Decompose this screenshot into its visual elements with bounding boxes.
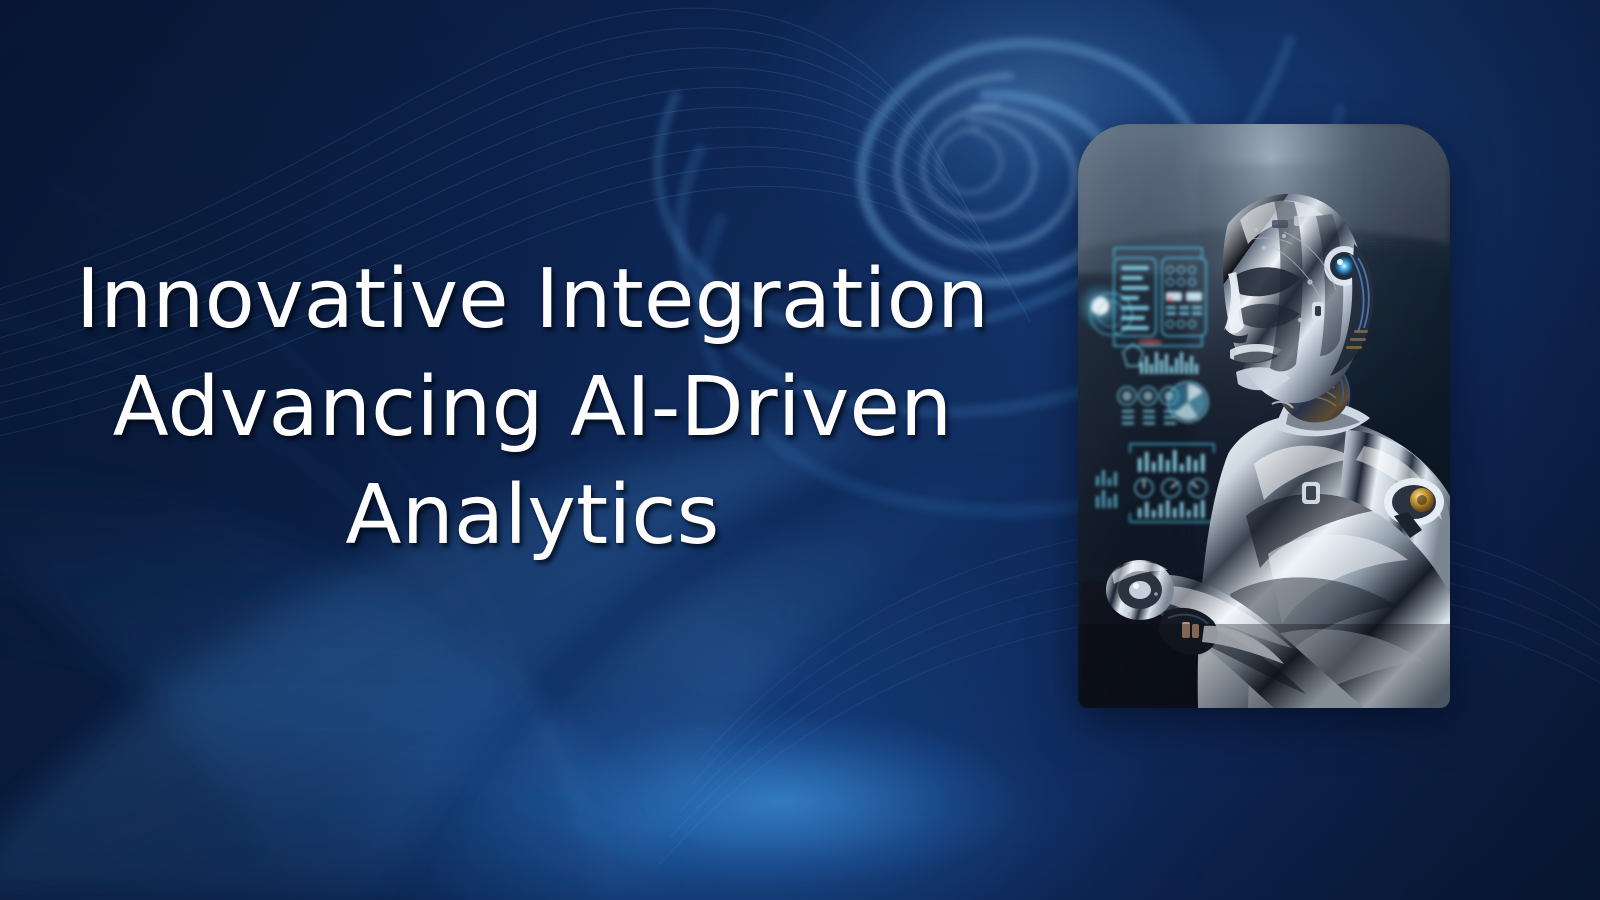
title-line-2: Advancing AI-Driven	[0, 354, 1065, 462]
title-line-1: Innovative Integration	[0, 246, 1065, 354]
title-slide: Innovative Integration Advancing AI-Driv…	[0, 0, 1600, 900]
title-line-3: Analytics	[0, 462, 1065, 570]
robot-image-card[interactable]	[1078, 124, 1450, 708]
robot-photo	[1078, 124, 1450, 708]
slide-title: Innovative Integration Advancing AI-Driv…	[0, 246, 1065, 571]
